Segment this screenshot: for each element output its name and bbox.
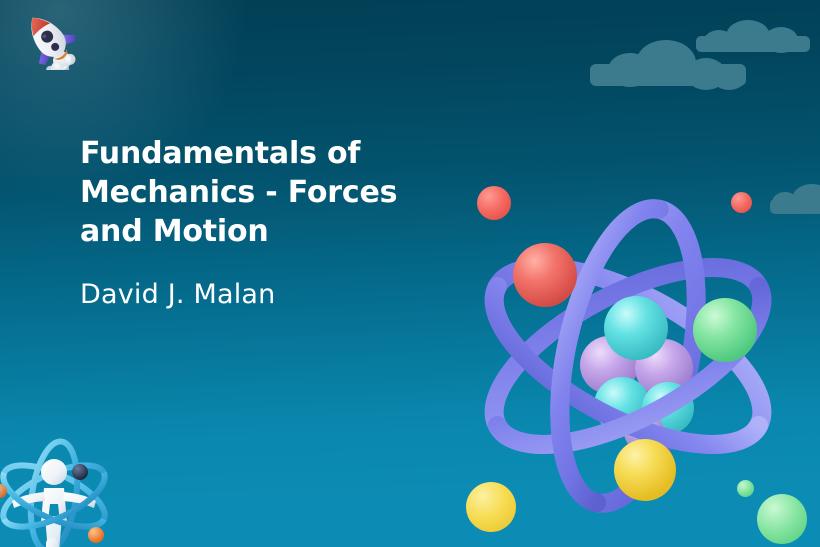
electron-red bbox=[513, 243, 577, 307]
electron-green bbox=[693, 298, 757, 362]
human-atom-electron-dark bbox=[72, 464, 88, 480]
cloud-part bbox=[764, 27, 798, 53]
nucleus-sphere-cyan-top bbox=[604, 296, 668, 360]
electron-yellow bbox=[614, 439, 676, 501]
presentation-slide: Fundamentals of Mechanics - Forces and M… bbox=[0, 0, 820, 547]
human-atom-electron-orange bbox=[88, 527, 104, 543]
sphere-green-large bbox=[757, 494, 807, 544]
slide-text-block: Fundamentals of Mechanics - Forces and M… bbox=[80, 134, 440, 311]
cloud-small-top-right bbox=[696, 20, 812, 52]
sphere-red-top-right bbox=[731, 192, 752, 213]
rocket-icon bbox=[10, 8, 88, 70]
cloud-part bbox=[712, 64, 746, 90]
human-atom-svg bbox=[0, 424, 142, 547]
slide-author: David J. Malan bbox=[80, 279, 440, 311]
sphere-green-small bbox=[737, 480, 754, 497]
human-atom-icon bbox=[0, 424, 142, 547]
cloud-part bbox=[726, 20, 770, 52]
human-head bbox=[41, 459, 67, 485]
slide-title: Fundamentals of Mechanics - Forces and M… bbox=[80, 134, 440, 251]
sphere-yellow-bottom bbox=[466, 482, 516, 532]
rocket-svg bbox=[10, 8, 88, 70]
sphere-red-top-left bbox=[477, 186, 511, 220]
